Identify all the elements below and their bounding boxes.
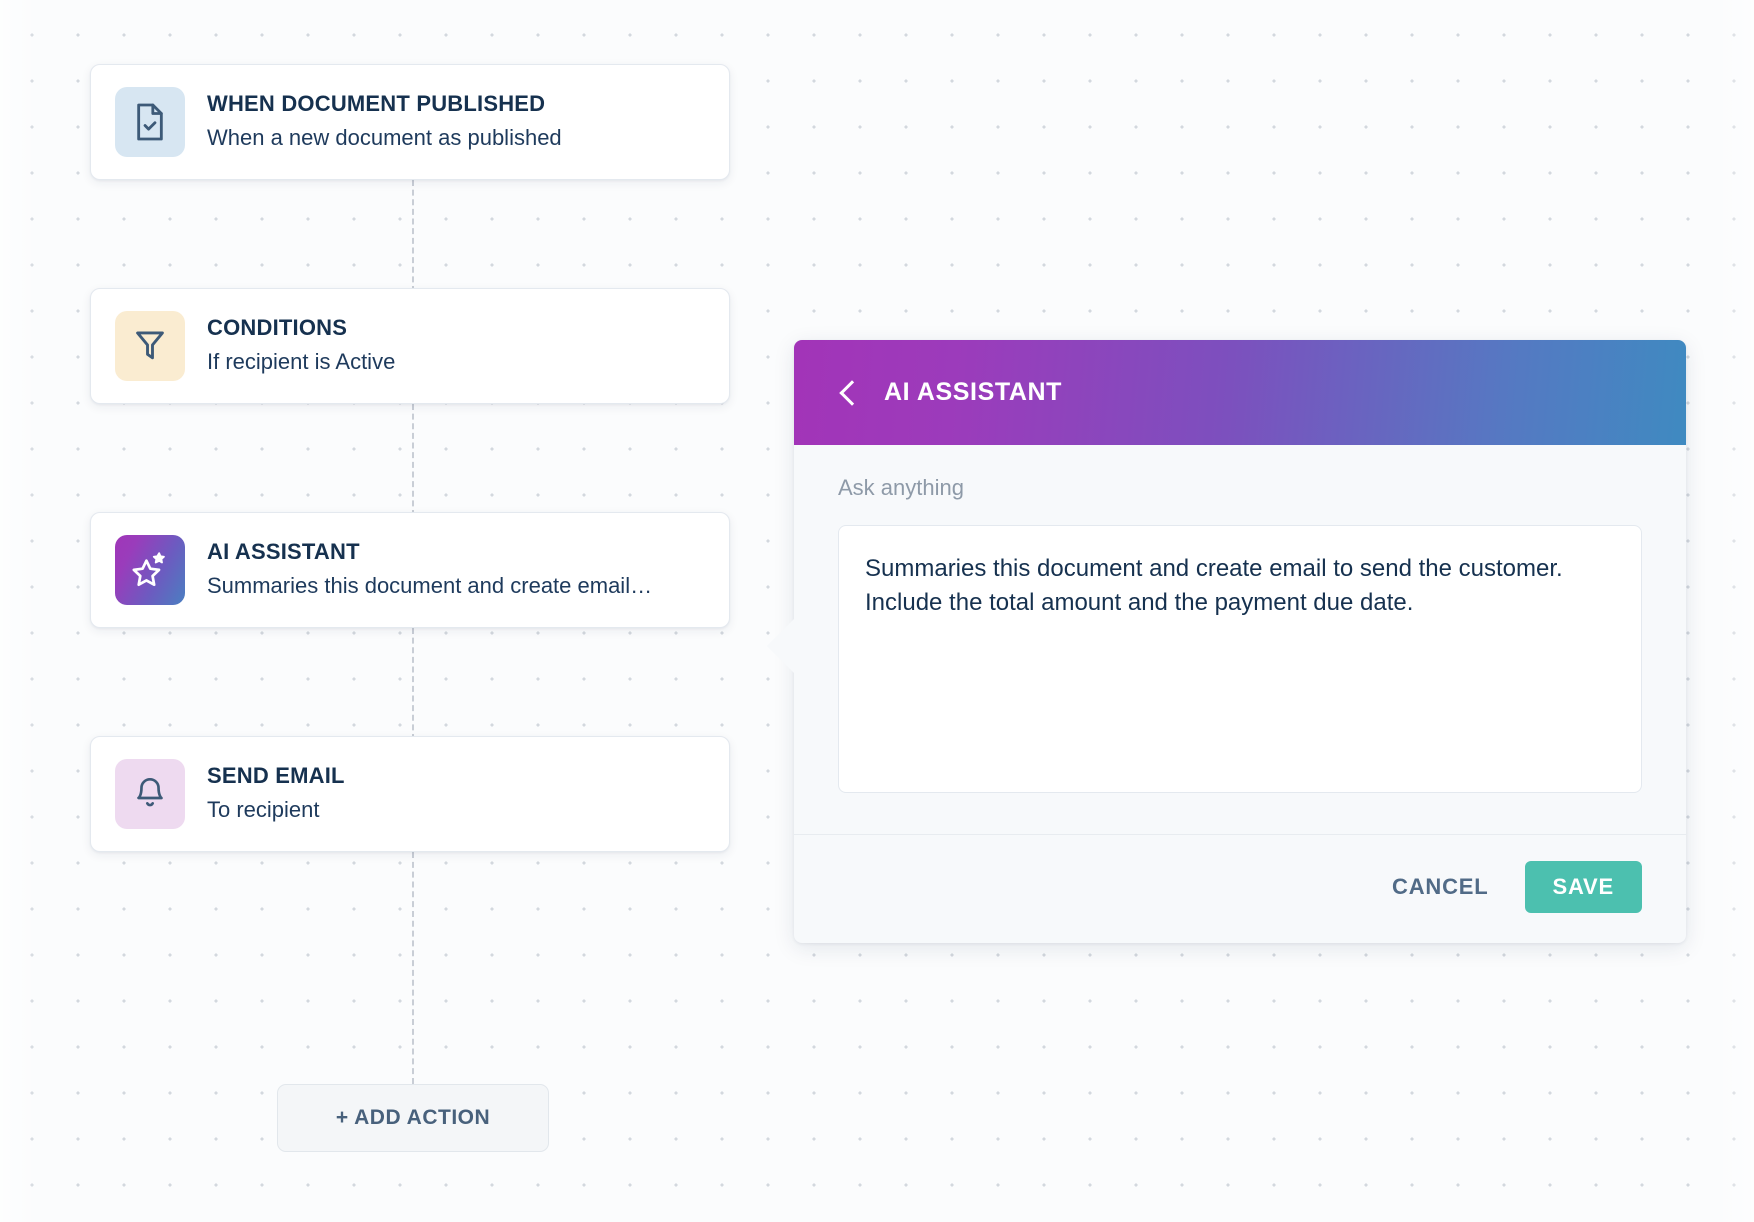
panel-header: AI ASSISTANT (794, 340, 1686, 445)
funnel-filter-icon (115, 311, 185, 381)
node-text-block: WHEN DOCUMENT PUBLISHED When a new docum… (207, 93, 562, 150)
node-title: AI ASSISTANT (207, 541, 652, 563)
node-title: WHEN DOCUMENT PUBLISHED (207, 93, 562, 115)
panel-body: Ask anything (794, 445, 1686, 834)
panel-footer: CANCEL SAVE (794, 834, 1686, 943)
node-text-block: AI ASSISTANT Summaries this document and… (207, 541, 652, 598)
connector-trigger-conditions (412, 180, 414, 292)
node-subtitle: Summaries this document and create email… (207, 573, 652, 598)
ai-assistant-panel: AI ASSISTANT Ask anything CANCEL SAVE (794, 340, 1686, 943)
ask-anything-label: Ask anything (838, 475, 1642, 501)
connector-email-add (412, 852, 414, 1084)
node-text-block: CONDITIONS If recipient is Active (207, 317, 395, 374)
node-subtitle: When a new document as published (207, 125, 562, 150)
workflow-node-when-document-published[interactable]: WHEN DOCUMENT PUBLISHED When a new docum… (90, 64, 730, 180)
star-sparkle-icon (115, 535, 185, 605)
workflow-node-conditions[interactable]: CONDITIONS If recipient is Active (90, 288, 730, 404)
document-check-icon (115, 87, 185, 157)
node-text-block: SEND EMAIL To recipient (207, 765, 345, 822)
node-title: SEND EMAIL (207, 765, 345, 787)
save-button[interactable]: SAVE (1525, 861, 1642, 913)
node-subtitle: If recipient is Active (207, 349, 395, 374)
bell-icon (115, 759, 185, 829)
panel-title: AI ASSISTANT (884, 378, 1062, 407)
chevron-left-icon[interactable] (838, 378, 858, 408)
prompt-textarea[interactable] (838, 525, 1642, 793)
connector-ai-email (412, 628, 414, 740)
workflow-node-ai-assistant[interactable]: AI ASSISTANT Summaries this document and… (90, 512, 730, 628)
workflow-node-send-email[interactable]: SEND EMAIL To recipient (90, 736, 730, 852)
connector-conditions-ai (412, 404, 414, 516)
cancel-button[interactable]: CANCEL (1392, 874, 1488, 900)
node-subtitle: To recipient (207, 797, 345, 822)
node-title: CONDITIONS (207, 317, 395, 339)
add-action-button[interactable]: + ADD ACTION (277, 1084, 549, 1152)
